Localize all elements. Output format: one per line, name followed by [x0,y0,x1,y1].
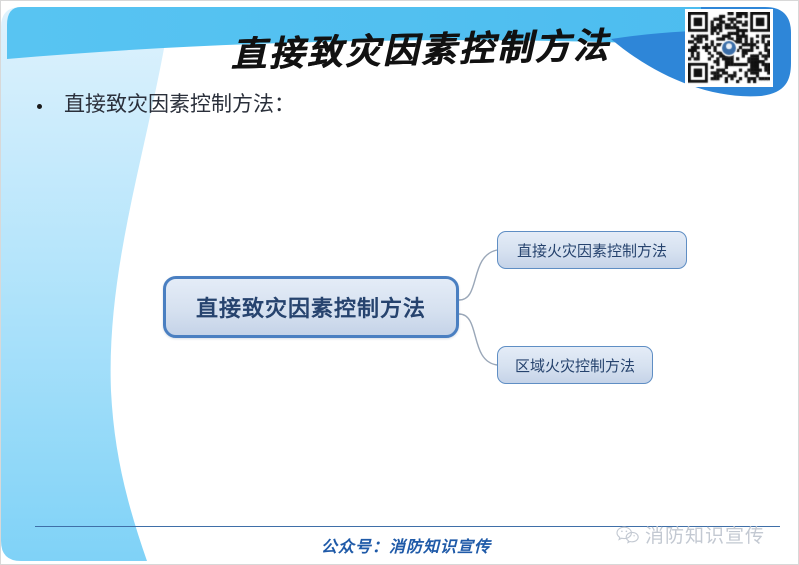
connector-to-child-1 [459,314,497,365]
wechat-account-label: 消防知识宣传 [645,521,765,548]
bullet-item-label: 直接致灾因素控制方法： [64,91,295,118]
mindmap-diagram: 直接致灾因素控制方法 直接火灾因素控制方法 区域火灾控制方法 [151,216,721,401]
qr-code[interactable] [688,12,770,84]
mindmap-child-label: 直接火灾因素控制方法 [517,240,667,261]
bullet-dot-icon [37,104,42,109]
wechat-badge[interactable]: 消防知识宣传 [615,521,765,548]
wechat-icon [615,525,641,545]
mindmap-child-node[interactable]: 区域火灾控制方法 [497,346,653,384]
connector-to-child-0 [459,250,497,300]
slide-canvas: 直接致灾因素控制方法 直接致灾因素控制方法： 直接致灾因素控制方法 直接火灾因素… [0,0,799,565]
bullet-item: 直接致灾因素控制方法： [37,91,295,118]
qr-code-container[interactable] [685,9,773,87]
footer-account-text: 公众号：消防知识宣传 [321,533,491,557]
mindmap-root-label: 直接致灾因素控制方法 [196,291,426,323]
mindmap-child-label: 区域火灾控制方法 [515,355,635,376]
mindmap-child-node[interactable]: 直接火灾因素控制方法 [497,231,687,269]
mindmap-root-node[interactable]: 直接致灾因素控制方法 [163,276,459,338]
slide-title: 直接致灾因素控制方法 [210,14,631,80]
